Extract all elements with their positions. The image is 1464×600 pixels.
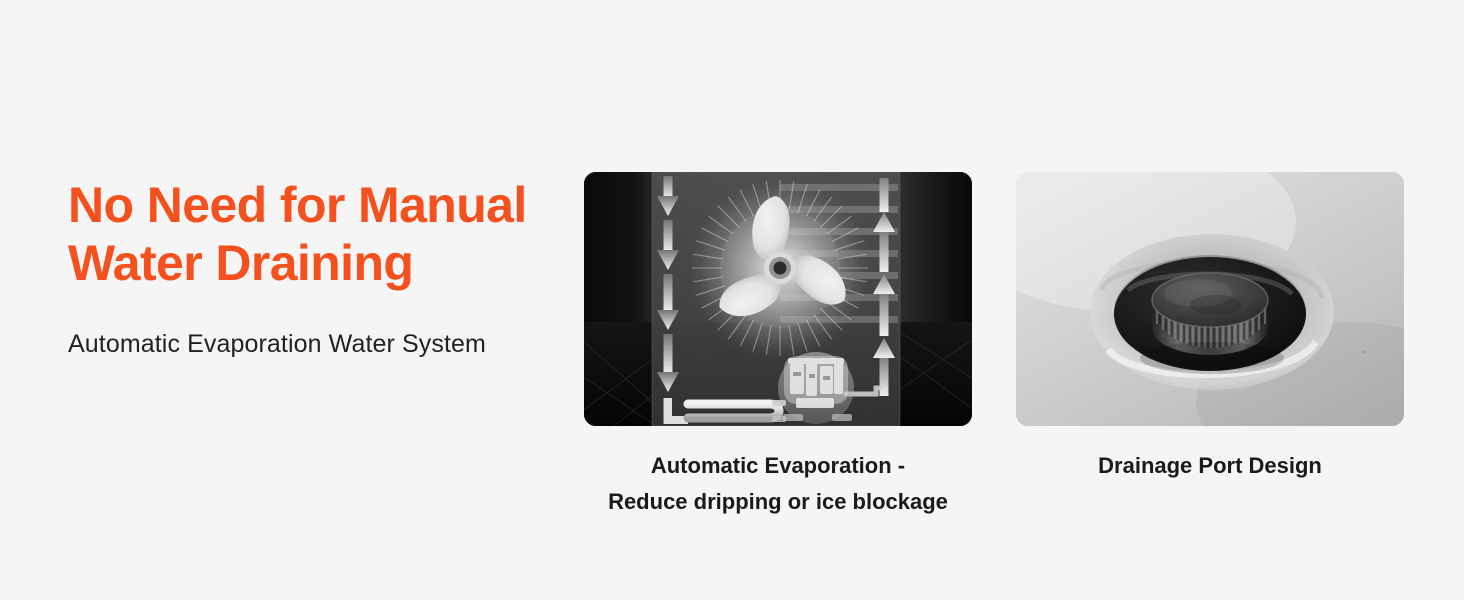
text-block: No Need for Manual Water Draining Automa… xyxy=(68,176,568,359)
card-caption: Drainage Port Design xyxy=(1098,426,1322,484)
subtitle: Automatic Evaporation Water System xyxy=(68,292,568,359)
feature-card-drainage: Drainage Port Design xyxy=(1016,172,1404,484)
automatic-evaporation-diagram xyxy=(584,172,972,426)
feature-card-evaporation: Automatic Evaporation - Reduce dripping … xyxy=(584,172,972,520)
feature-cards: Automatic Evaporation - Reduce dripping … xyxy=(584,172,1394,520)
drainage-port-photo xyxy=(1016,172,1404,426)
card-caption: Automatic Evaporation - Reduce dripping … xyxy=(608,426,948,520)
page-title: No Need for Manual Water Draining xyxy=(68,176,568,292)
promo-banner: No Need for Manual Water Draining Automa… xyxy=(0,0,1464,600)
